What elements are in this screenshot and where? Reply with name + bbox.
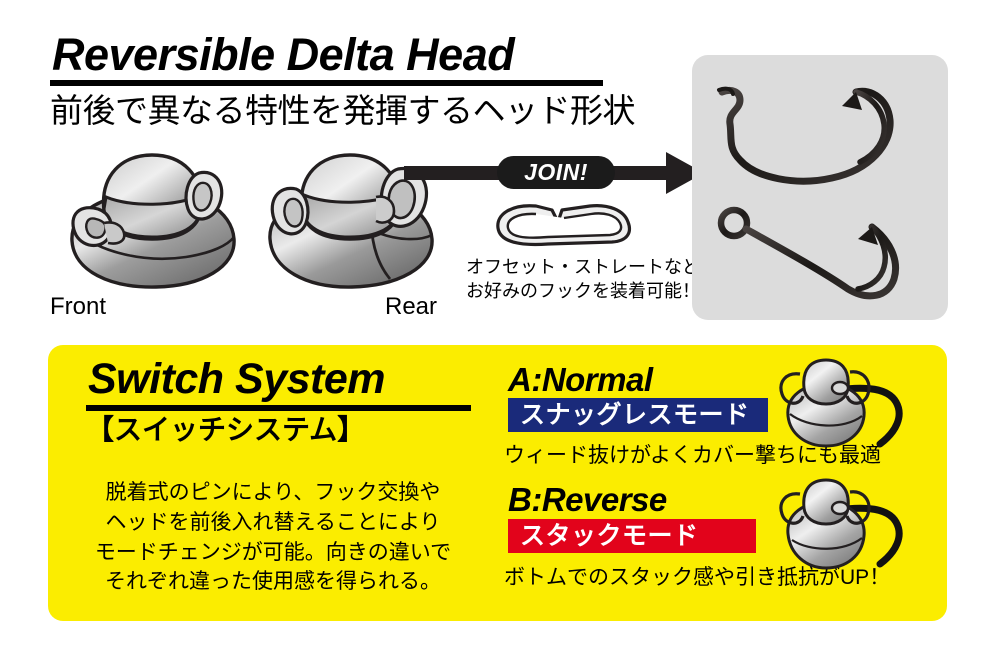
head-label-front: Front	[50, 295, 106, 319]
switch-title-underline-rule	[86, 405, 471, 411]
mode-b-badge: スタックモード	[508, 519, 756, 553]
head-label-rear: Rear	[385, 295, 437, 319]
title-underline-rule	[50, 80, 603, 86]
join-badge-label: JOIN!	[524, 161, 588, 184]
straight-shank-hook-illustration	[712, 205, 932, 310]
description-line-1: 脱着式のピンにより、フック交換や	[78, 478, 468, 508]
page-subtitle-japanese: 前後で異なる特性を発揮するヘッド形状	[50, 92, 670, 130]
mode-a-jig-illustration	[770, 358, 950, 458]
join-badge: JOIN!	[497, 156, 615, 189]
snap-caption-line-1: オフセット・ストレートなど	[466, 255, 716, 279]
mode-a-label: A:Normal	[508, 363, 653, 396]
switch-system-description: 脱着式のピンにより、フック交換や ヘッドを前後入れ替えることにより モードチェン…	[78, 478, 468, 597]
mode-a-badge-text: スナッグレスモード	[520, 403, 750, 428]
description-line-4: それぞれ違った使用感を得られる。	[78, 567, 468, 597]
mode-b-jig-illustration	[770, 478, 950, 578]
page-title-english: Reversible Delta Head	[52, 32, 652, 77]
jig-head-front-illustration	[60, 145, 260, 300]
mode-b-label: B:Reverse	[508, 483, 667, 516]
description-line-2: ヘッドを前後入れ替えることにより	[78, 508, 468, 538]
offset-worm-hook-illustration	[710, 82, 930, 192]
snap-caption-line-2: お好みのフックを装着可能！	[466, 279, 716, 303]
description-line-3: モードチェンジが可能。向きの違いで	[78, 538, 468, 568]
snap-clip-caption: オフセット・ストレートなど お好みのフックを装着可能！	[466, 255, 716, 304]
mode-a-badge: スナッグレスモード	[508, 398, 768, 432]
switch-system-title-japanese: 【スイッチシステム】	[86, 415, 506, 446]
mode-b-badge-text: スタックモード	[520, 524, 699, 549]
snap-clip-illustration	[492, 198, 632, 250]
switch-system-title-english: Switch System	[88, 358, 508, 401]
